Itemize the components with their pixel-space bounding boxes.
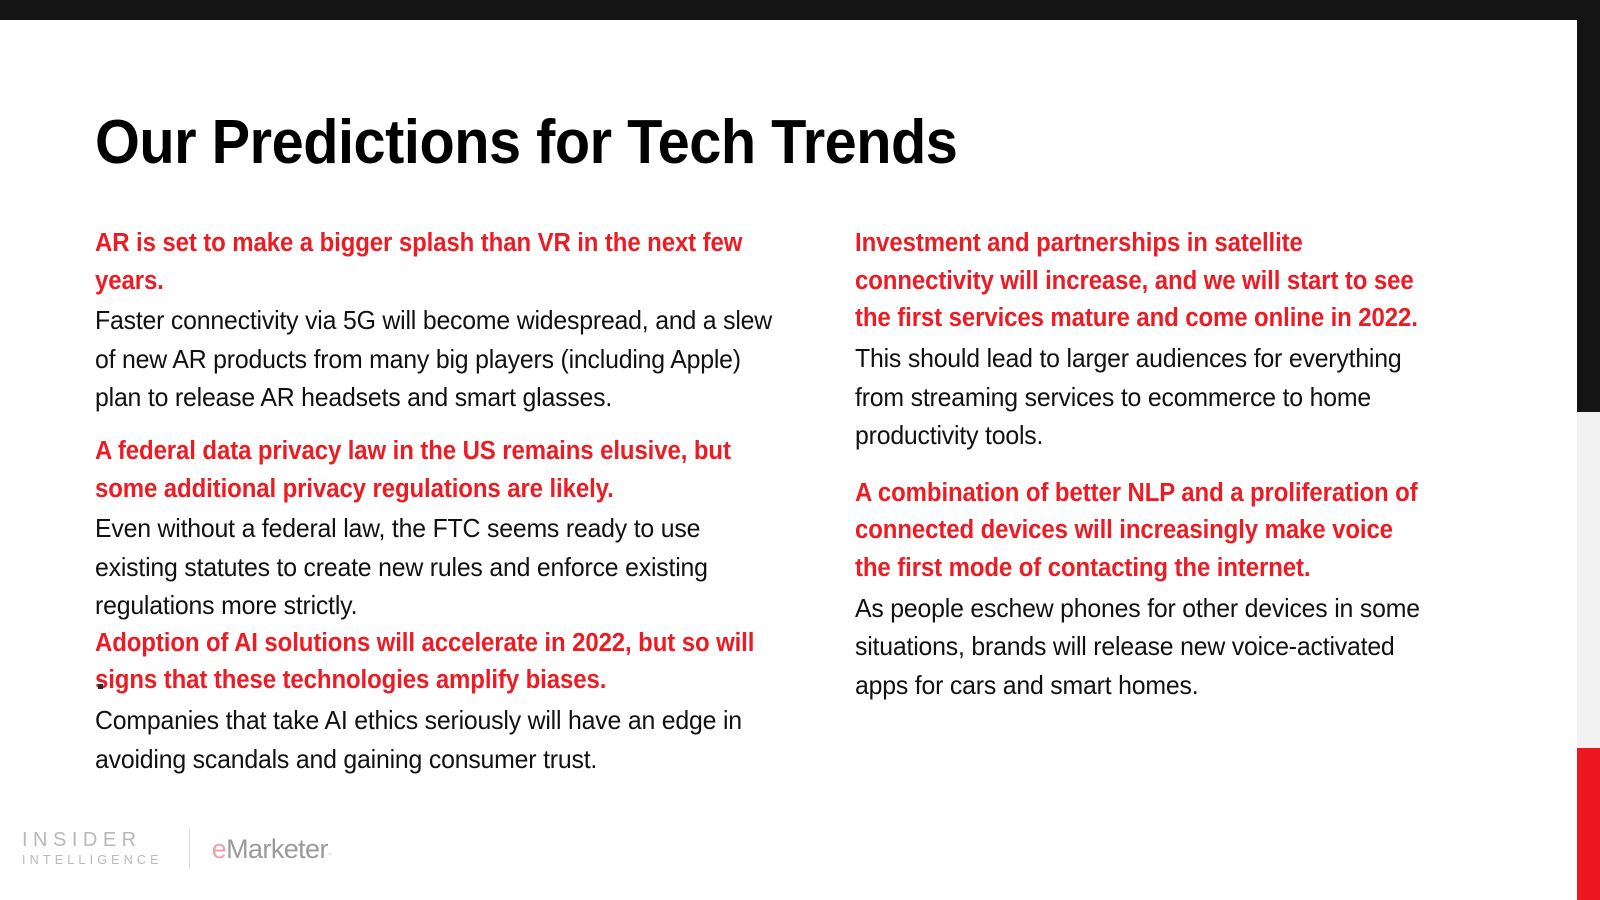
prediction-block: Adoption of AI solutions will accelerate…: [95, 625, 807, 778]
insider-logo-line2: INTELLIGENCE: [22, 853, 163, 869]
insider-logo-line1: INSIDER: [22, 829, 163, 853]
prediction-body: As people eschew phones for other device…: [855, 589, 1428, 704]
right-column: Investment and partnerships in satellite…: [855, 225, 1455, 704]
emarketer-logo: eMarketer·: [212, 836, 332, 863]
left-column: AR is set to make a bigger splash than V…: [95, 225, 807, 778]
prediction-block: A federal data privacy law in the US rem…: [95, 433, 807, 625]
prediction-block: Investment and partnerships in satellite…: [855, 225, 1455, 455]
prediction-body: Even without a federal law, the FTC seem…: [95, 509, 775, 624]
prediction-lead: Adoption of AI solutions will accelerate…: [95, 625, 764, 700]
prediction-lead: A federal data privacy law in the US rem…: [95, 433, 764, 508]
footer-logos: INSIDER INTELLIGENCE eMarketer·: [22, 826, 332, 872]
prediction-lead: Investment and partnerships in satellite…: [855, 225, 1419, 338]
prediction-lead: AR is set to make a bigger splash than V…: [95, 225, 764, 300]
emarketer-logo-e: e: [212, 834, 226, 864]
prediction-block: A combination of better NLP and a prolif…: [855, 475, 1455, 705]
slide-canvas: Our Predictions for Tech Trends AR is se…: [0, 0, 1600, 900]
content-columns: AR is set to make a bigger splash than V…: [0, 0, 1600, 900]
insider-intelligence-logo: INSIDER INTELLIGENCE: [22, 829, 163, 868]
emarketer-logo-mark: ·: [328, 846, 332, 861]
prediction-body: Companies that take AI ethics seriously …: [95, 701, 775, 778]
prediction-body: This should lead to larger audiences for…: [855, 339, 1428, 454]
prediction-lead: A combination of better NLP and a prolif…: [855, 475, 1419, 588]
stray-speck-artifact: [98, 684, 103, 689]
emarketer-logo-text: Marketer: [226, 834, 328, 864]
prediction-block: AR is set to make a bigger splash than V…: [95, 225, 807, 417]
prediction-body: Faster connectivity via 5G will become w…: [95, 301, 775, 416]
logo-divider: [189, 829, 190, 869]
